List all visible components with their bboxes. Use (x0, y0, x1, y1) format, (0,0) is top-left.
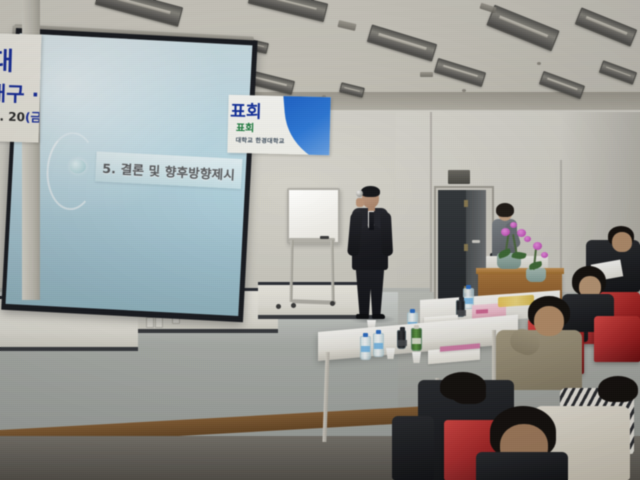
presenter-arm-right (380, 212, 393, 257)
ceiling-vent (420, 72, 433, 77)
bottle-label (457, 310, 466, 316)
presenter-necktie (369, 212, 374, 230)
bottle-label (374, 343, 383, 349)
bottle-cap (400, 327, 405, 331)
presenter-hand (356, 198, 364, 207)
whiteboard-caster-wheel (276, 304, 281, 309)
audience-head (534, 306, 564, 336)
seated-woman-hair (496, 203, 514, 217)
paper-cup[interactable] (386, 348, 395, 359)
whiteboard-caster-wheel (330, 301, 335, 306)
left-banner-line3: 1. 20(금) 1 (0, 107, 41, 126)
dark-thermos[interactable] (397, 330, 406, 349)
water-bottle[interactable] (360, 336, 371, 360)
wall-seam (430, 112, 432, 307)
orchid-flower (501, 228, 510, 236)
sprinkler-head (462, 89, 466, 92)
bottle-cap (376, 330, 381, 334)
orchid-flower (541, 252, 548, 258)
right-banner-line3: 대학교 한경대학교 (236, 135, 285, 145)
audience-chair[interactable] (594, 316, 640, 362)
bottle-label (398, 340, 407, 346)
bottle-cap (363, 333, 368, 337)
orchid-flower (510, 222, 517, 228)
projected-slide: 5. 결론 및 향후방향제시 (6, 33, 253, 316)
bottle-cap (466, 285, 471, 289)
chair-shading (594, 316, 640, 362)
banner-swoosh-graphic (283, 95, 331, 155)
door-handle[interactable] (472, 240, 480, 243)
right-banner: 표회 표회 대학교 한경대학교 (227, 95, 330, 155)
bottle-cap (459, 297, 464, 301)
left-banner-line1: 대 (0, 41, 14, 78)
left-banner: 대 대구 · 1. 20(금) 1 (0, 33, 41, 142)
audience-shoulders (476, 452, 568, 480)
wall-outlet[interactable] (155, 317, 163, 328)
bottle-cap (414, 325, 419, 329)
bottle-label (412, 338, 421, 344)
wall-outlet[interactable] (146, 317, 154, 328)
right-banner-line2: 표회 (236, 119, 255, 134)
bottle-cap (410, 309, 415, 313)
door-hinge (464, 200, 468, 207)
left-banner-date-bracket: (금) (25, 110, 42, 125)
orchid-pot (526, 268, 546, 282)
audience-hair (452, 382, 486, 404)
orchid-flower (524, 236, 531, 242)
whiteboard-caster-wheel (291, 303, 296, 308)
auditorium-photo: 5. 결론 및 향후방향제시 대 대구 · 1. 20(금) 1 표회 표회 대… (0, 0, 640, 480)
bottle-label (361, 346, 370, 352)
bottle-label (464, 298, 473, 304)
orchid-flower (533, 242, 542, 250)
door-hinge (464, 244, 468, 251)
pink-box-label (476, 309, 488, 314)
presenter-shoe-right (372, 314, 385, 319)
presenter-shoe-left (356, 314, 369, 319)
sprinkler-head (537, 62, 541, 65)
cabinet-top-surface (476, 268, 564, 274)
water-bottle[interactable] (373, 333, 384, 357)
green-beverage-bottle[interactable] (411, 328, 422, 351)
audience-head (612, 232, 632, 252)
screen-light-falloff (6, 33, 253, 316)
left-banner-date-prefix: 1. 20 (0, 109, 25, 124)
paper-cup[interactable] (412, 352, 421, 363)
presenter-hair (361, 186, 380, 197)
wall-mounted-speaker (448, 170, 470, 184)
audience-dark-jacket (392, 416, 434, 480)
microphone-head-icon (356, 190, 363, 197)
whiteboard-marker[interactable] (320, 236, 329, 239)
left-banner-line2: 대구 · (0, 77, 40, 107)
whiteboard[interactable] (287, 188, 340, 244)
audience-hair (598, 376, 638, 402)
